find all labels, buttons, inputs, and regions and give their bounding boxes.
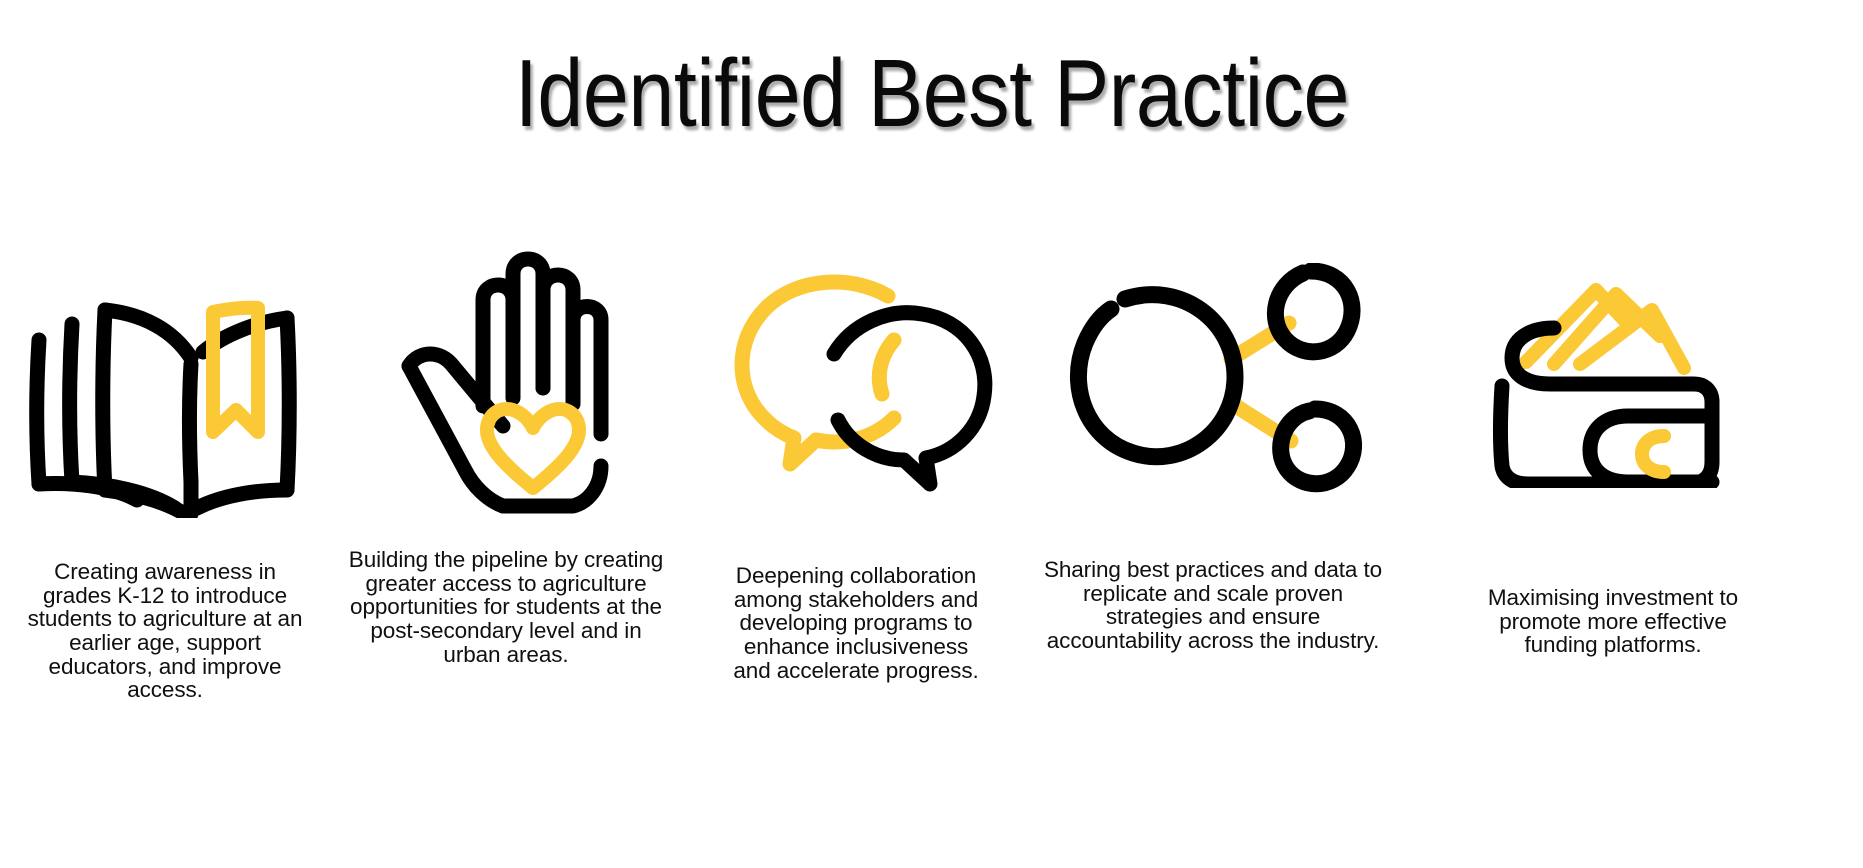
best-practice-item-2[interactable]: Building the pipeline by creating greate… <box>336 228 676 666</box>
page-title: Identified Best Practice <box>514 44 1348 145</box>
best-practice-item-3[interactable]: Deepening collaboration among stakeholde… <box>706 228 1006 682</box>
slide-canvas: Identified Best Practice <box>0 0 1863 868</box>
best-practice-caption-1: Creating awareness in grades K-12 to int… <box>17 560 313 702</box>
page-title-container: Identified Best Practice <box>0 44 1863 145</box>
open-book-with-bookmark-icon <box>25 228 305 518</box>
best-practice-caption-5: Maximising investment to promote more ef… <box>1478 586 1748 657</box>
best-practice-item-4[interactable]: Sharing best practices and data to repli… <box>1028 228 1398 653</box>
best-practice-item-5[interactable]: Maximising investment to promote more ef… <box>1448 228 1778 657</box>
best-practice-item-1[interactable]: Creating awareness in grades K-12 to int… <box>0 228 330 702</box>
hand-with-heart-icon <box>391 228 621 518</box>
best-practice-caption-2: Building the pipeline by creating greate… <box>346 548 666 666</box>
best-practice-columns: Creating awareness in grades K-12 to int… <box>0 228 1863 702</box>
wallet-with-cash-icon <box>1488 228 1738 528</box>
network-share-nodes-icon <box>1063 228 1363 528</box>
best-practice-caption-4: Sharing best practices and data to repli… <box>1043 558 1383 653</box>
two-speech-bubbles-icon <box>716 228 996 528</box>
best-practice-caption-3: Deepening collaboration among stakeholde… <box>725 564 987 682</box>
